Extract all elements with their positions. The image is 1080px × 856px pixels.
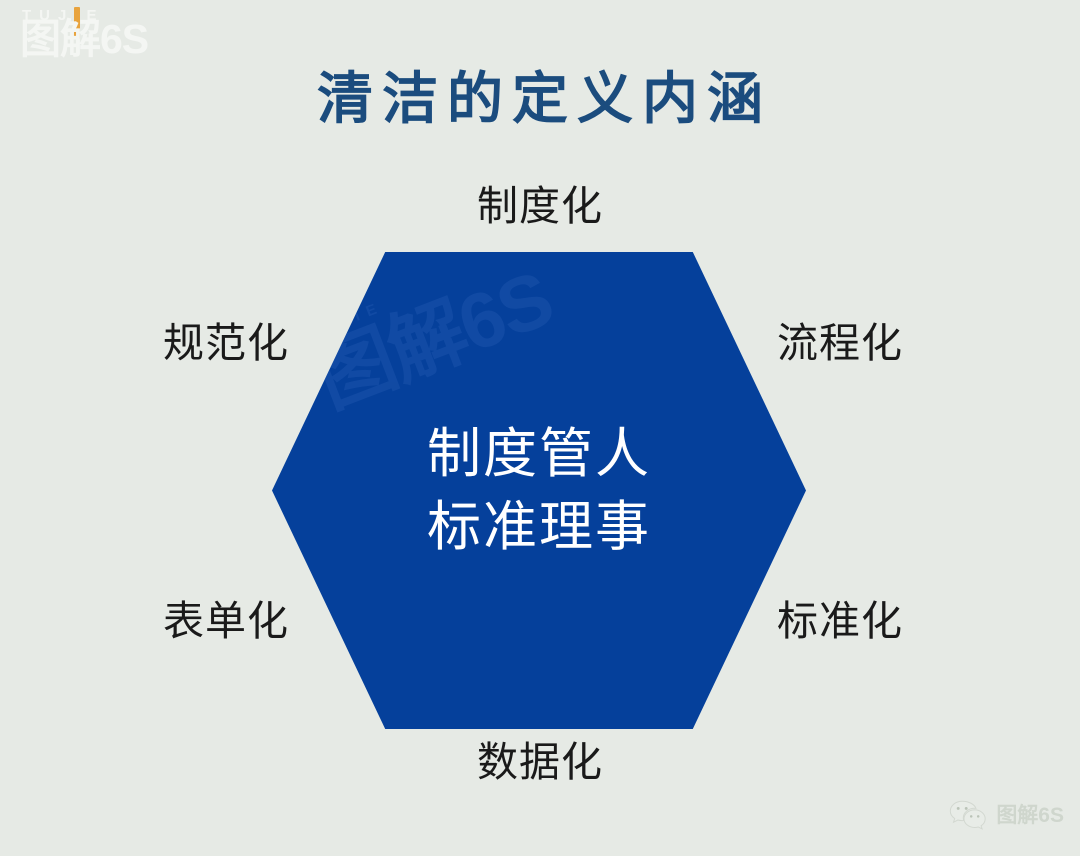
hex-label-top: 制度化	[0, 186, 1080, 227]
hexagon-diagram: TUJIE 图解6S 制度管人 标准理事	[272, 252, 806, 729]
hex-label-bottom: 数据化	[0, 742, 1080, 783]
slide-canvas: TUJIE 图解6S 清洁的定义内涵 制度化 流程化 标准化 数据化 表单化 规…	[0, 0, 1080, 856]
hex-label-bottom-left: 表单化	[163, 601, 289, 642]
page-title: 清洁的定义内涵	[0, 68, 1080, 130]
wechat-icon	[949, 800, 987, 830]
wechat-badge: 图解6S	[949, 800, 1064, 830]
hexagon-shape: TUJIE 图解6S 制度管人 标准理事	[272, 252, 806, 729]
brand-logo: TUJIE 图解6S	[14, 6, 204, 66]
wechat-account-name: 图解6S	[996, 805, 1064, 826]
hex-label-top-left: 规范化	[163, 323, 289, 364]
hexagon-center-line-1: 制度管人	[427, 426, 651, 483]
hexagon-center-line-2: 标准理事	[427, 499, 651, 556]
brand-logo-text: 图解6S	[20, 19, 148, 60]
hexagon-center-text: 制度管人 标准理事	[272, 252, 806, 729]
